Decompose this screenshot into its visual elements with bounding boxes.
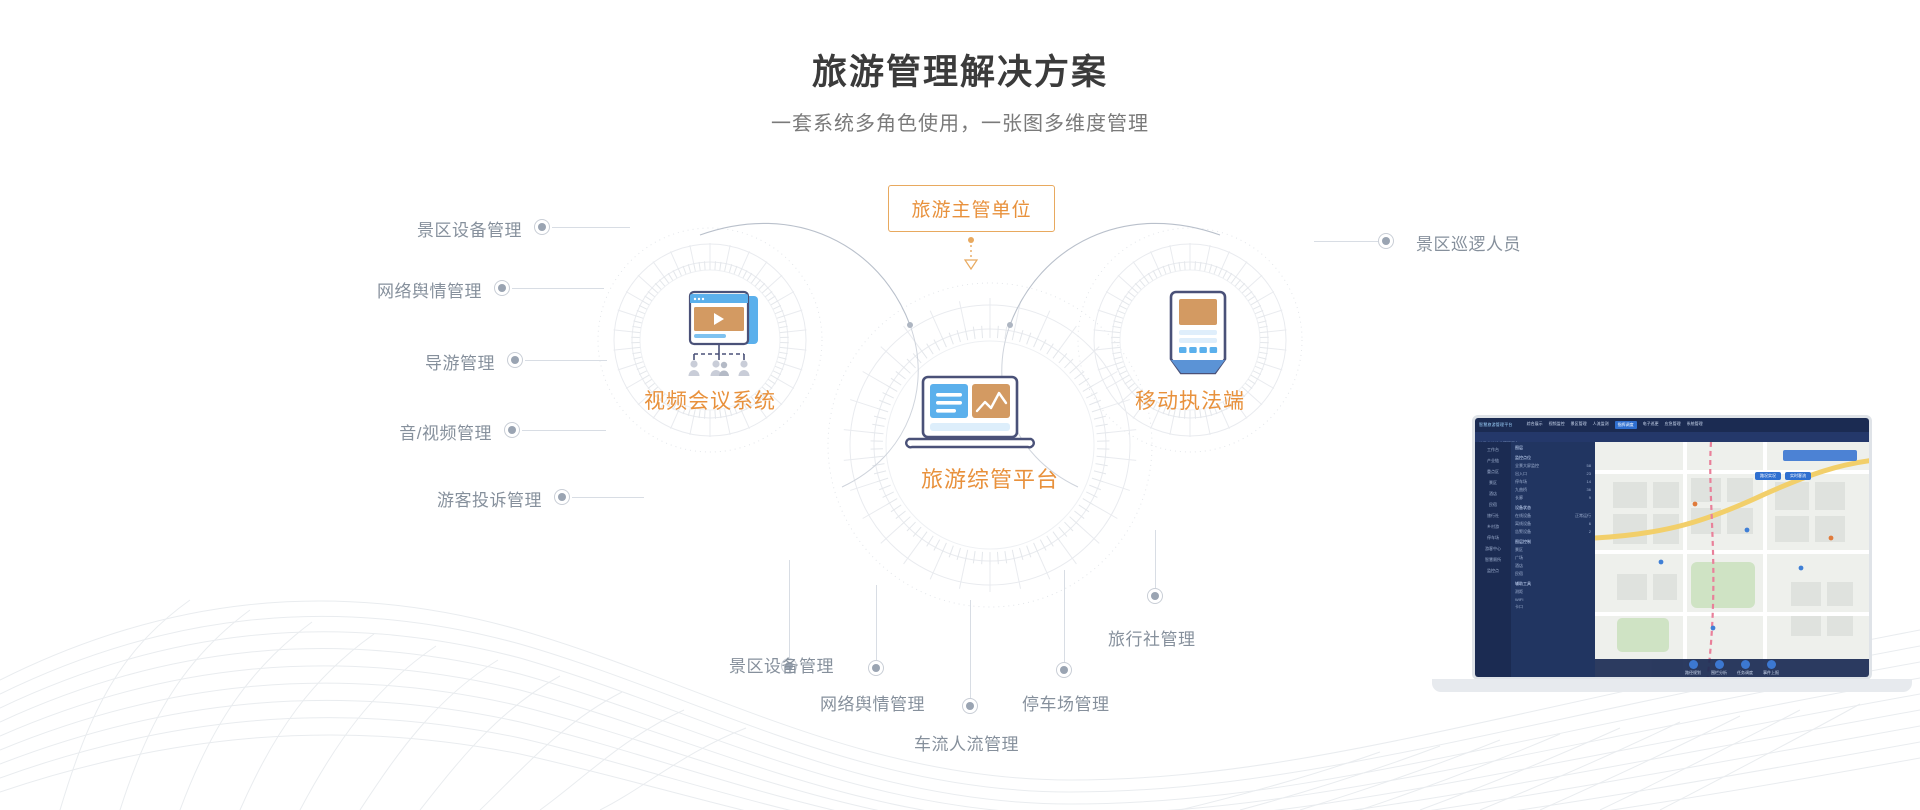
mock-panel-row[interactable]: 出入口23	[1511, 470, 1595, 478]
mock-sidebar-item-9[interactable]: 游客中心	[1475, 541, 1511, 552]
dot-left-0[interactable]	[534, 219, 550, 235]
mock-row-label: 告警设备	[1515, 529, 1531, 535]
mock-row-label: 全景大屏监控	[1515, 463, 1539, 469]
label-bottom-2: 车流人流管理	[914, 730, 1019, 755]
mock-sidebar-item-10[interactable]: 智慧厕所	[1475, 552, 1511, 563]
mock-panel-row[interactable]: 九曲桥36	[1511, 486, 1595, 494]
mock-group-title-3: 辅助工具	[1511, 578, 1595, 588]
dot-left-2[interactable]	[507, 352, 523, 368]
dot-bottom-2[interactable]	[962, 698, 978, 714]
mock-panel-row[interactable]: 卡口	[1511, 603, 1595, 611]
mock-panel-row[interactable]: 测距	[1511, 588, 1595, 596]
mock-tool-0[interactable]: 路径规划	[1685, 660, 1701, 676]
mock-panel-row[interactable]: 告警设备2	[1511, 528, 1595, 536]
leader-bottom-1	[876, 585, 877, 670]
label-left-0: 景区设备管理	[334, 216, 522, 241]
leader-bottom-2	[970, 600, 971, 700]
mock-sidebar-item-7[interactable]: 乡村游	[1475, 519, 1511, 530]
solution-infographic: 旅游管理解决方案 一套系统多角色使用，一张图多维度管理 旅游主管单位	[0, 0, 1920, 810]
label-left-2: 导游管理	[307, 349, 495, 374]
mock-row-value: 14	[1587, 479, 1591, 485]
mock-group-title-1: 设备状态	[1511, 502, 1595, 512]
dot-left-4[interactable]	[554, 489, 570, 505]
label-left-1: 网络舆情管理	[294, 277, 482, 302]
dispatch-icon	[1741, 660, 1750, 669]
node-caption-platform: 旅游综管平台	[860, 462, 1120, 494]
mock-sidebar-item-8[interactable]: 停车场	[1475, 530, 1511, 541]
leader-left-2	[525, 360, 607, 361]
mock-panel-row[interactable]: 长廊9	[1511, 494, 1595, 502]
leader-left-1	[512, 288, 604, 289]
dot-bottom-1[interactable]	[868, 660, 884, 676]
laptop-mockup: 智慧旅游管理平台 综合展示 视频监控 景区管理 人流监测 指挥调度 电子巡更 应…	[1432, 415, 1912, 715]
video-conference-icon	[672, 290, 782, 380]
mock-row-label: 在线设备	[1515, 513, 1531, 519]
mock-row-label: 酒店	[1515, 563, 1523, 569]
mock-menu-0[interactable]: 综合展示	[1527, 421, 1543, 429]
mock-panel-row[interactable]: 在线设备正常运行	[1511, 512, 1595, 520]
node-caption-video: 视频会议系统	[600, 385, 820, 415]
dot-right-0[interactable]	[1378, 233, 1394, 249]
mock-map-tab-1[interactable]: 实时客流	[1785, 472, 1811, 480]
mock-tool-label: 事件上报	[1763, 670, 1779, 675]
dot-bottom-3[interactable]	[1056, 662, 1072, 678]
mock-row-value: 正常运行	[1575, 513, 1591, 519]
mock-map-graphics	[1595, 442, 1869, 677]
mock-menu-1[interactable]: 视频监控	[1549, 421, 1565, 429]
mock-tool-1[interactable]: 围栏分析	[1711, 660, 1727, 676]
mock-map-tabs[interactable]: 路况实况 实时客流	[1755, 472, 1811, 480]
mock-menu-2[interactable]: 景区管理	[1571, 421, 1587, 429]
handheld-device-icon	[1160, 288, 1236, 384]
mock-sidebar-item-3[interactable]: 景区	[1475, 475, 1511, 486]
mock-row-label: 测距	[1515, 589, 1523, 595]
mock-row-label: 停车场	[1515, 479, 1527, 485]
mock-row-label: 民宿	[1515, 571, 1523, 577]
mock-topbar: 智慧旅游管理平台 综合展示 视频监控 景区管理 人流监测 指挥调度 电子巡更 应…	[1475, 418, 1869, 432]
mock-row-value: 9	[1589, 495, 1591, 501]
mock-group-title-2: 图层控制	[1511, 536, 1595, 546]
mock-sidebar-item-1[interactable]: 产业链	[1475, 453, 1511, 464]
mock-tool-label: 路径规划	[1685, 670, 1701, 675]
leader-left-3	[522, 430, 606, 431]
mock-sidebar-item-2[interactable]: 重点区	[1475, 464, 1511, 475]
mock-menu-7[interactable]: 系统管理	[1687, 421, 1703, 429]
mock-map-tab-0[interactable]: 路况实况	[1755, 472, 1781, 480]
mock-panel-row[interactable]: 离线设备6	[1511, 520, 1595, 528]
leader-bottom-3	[1064, 570, 1065, 665]
mock-panel-title: 图层	[1511, 442, 1595, 452]
leader-bottom-4	[1155, 530, 1156, 590]
mock-row-label: 景区	[1515, 547, 1523, 553]
mock-panel-row[interactable]: 广场	[1511, 554, 1595, 562]
mock-sidebar[interactable]: 工作台 产业链 重点区 景区 酒店 民宿 旅行社 乡村游 停车场 游客中心 智慧…	[1475, 442, 1511, 677]
dot-bottom-4[interactable]	[1147, 588, 1163, 604]
mock-menu-5[interactable]: 电子巡更	[1643, 421, 1659, 429]
dot-left-3[interactable]	[504, 422, 520, 438]
laptop-base	[1432, 679, 1912, 692]
route-icon	[1689, 660, 1698, 669]
label-bottom-0: 景区设备管理	[729, 652, 834, 677]
mock-row-value: 6	[1589, 521, 1591, 527]
mock-row-label: WIFI	[1515, 597, 1523, 602]
mock-tool-label: 围栏分析	[1711, 670, 1727, 675]
mock-row-label: 九曲桥	[1515, 487, 1527, 493]
mock-menu-6[interactable]: 应急管理	[1665, 421, 1681, 429]
page-subtitle: 一套系统多角色使用，一张图多维度管理	[0, 107, 1920, 136]
leader-bottom-0	[789, 560, 790, 660]
mock-panel-row[interactable]: 停车场14	[1511, 478, 1595, 486]
mock-sidebar-item-5[interactable]: 民宿	[1475, 497, 1511, 508]
mock-row-label: 出入口	[1515, 471, 1527, 477]
mock-top-menu[interactable]: 综合展示 视频监控 景区管理 人流监测 指挥调度 电子巡更 应急管理 系统管理	[1527, 421, 1703, 429]
mock-tool-3[interactable]: 事件上报	[1763, 660, 1779, 676]
mock-sidebar-item-6[interactable]: 旅行社	[1475, 508, 1511, 519]
label-left-3: 音/视频管理	[304, 419, 492, 444]
mock-menu-3[interactable]: 人流监测	[1593, 421, 1609, 429]
dot-left-1[interactable]	[494, 280, 510, 296]
mock-sidebar-item-4[interactable]: 酒店	[1475, 486, 1511, 497]
mock-panel-row[interactable]: 景区	[1511, 546, 1595, 554]
mock-panel-row[interactable]: 酒店	[1511, 562, 1595, 570]
node-caption-mobile: 移动执法端	[1080, 385, 1300, 415]
mock-tool-2[interactable]: 任务调度	[1737, 660, 1753, 676]
mock-panel-row[interactable]: 全景大屏监控58	[1511, 462, 1595, 470]
laptop-screen: 智慧旅游管理平台 综合展示 视频监控 景区管理 人流监测 指挥调度 电子巡更 应…	[1472, 415, 1872, 680]
mock-brand: 智慧旅游管理平台	[1475, 422, 1513, 428]
mock-row-label: 长廊	[1515, 495, 1523, 501]
leader-right-0	[1314, 241, 1378, 242]
mock-menu-4[interactable]: 指挥调度	[1615, 421, 1637, 429]
label-bottom-3: 停车场管理	[1022, 690, 1110, 715]
mock-subtitle-bar: 旅游文旅综合管理平台	[1475, 432, 1869, 442]
mock-sidebar-item-11[interactable]: 监控点	[1475, 563, 1511, 574]
mock-group-title-0: 监控点位	[1511, 452, 1595, 462]
mock-bottom-toolbar[interactable]: 路径规划 围栏分析 任务调度 事件上报	[1595, 659, 1869, 677]
mock-tool-label: 任务调度	[1737, 670, 1753, 675]
label-bottom-4: 旅行社管理	[1108, 625, 1196, 650]
mock-panel-row[interactable]: 民宿	[1511, 570, 1595, 578]
mock-layer-panel[interactable]: 图层 监控点位 全景大屏监控58 出入口23 停车场14 九曲桥36 长廊9 设…	[1511, 442, 1595, 677]
fence-icon	[1715, 660, 1724, 669]
mock-sidebar-item-0[interactable]: 工作台	[1475, 442, 1511, 453]
laptop-dashboard-icon	[905, 375, 1035, 455]
page-title: 旅游管理解决方案	[0, 44, 1920, 95]
leader-left-4	[572, 497, 644, 498]
mock-row-value: 23	[1587, 471, 1591, 477]
mock-row-value: 36	[1587, 487, 1591, 493]
mock-map-canvas[interactable]: 路况实况 实时客流	[1595, 442, 1869, 677]
mock-row-label: 卡口	[1515, 604, 1523, 610]
mock-row-value: 2	[1589, 529, 1591, 535]
mock-row-label: 广场	[1515, 555, 1523, 561]
label-right-0: 景区巡逻人员	[1416, 230, 1521, 255]
label-bottom-1: 网络舆情管理	[820, 690, 925, 715]
mock-panel-row[interactable]: WIFI	[1511, 596, 1595, 603]
report-icon	[1767, 660, 1776, 669]
mock-row-label: 离线设备	[1515, 521, 1531, 527]
leader-left-0	[552, 227, 630, 228]
label-left-4: 游客投诉管理	[354, 486, 542, 511]
mock-row-value: 58	[1587, 463, 1591, 469]
